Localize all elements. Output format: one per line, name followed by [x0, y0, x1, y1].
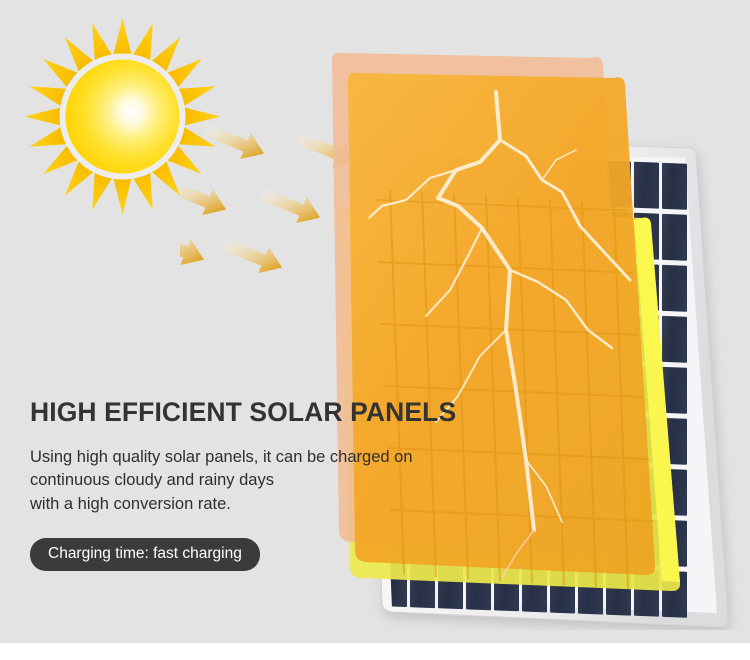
- description-line-1: Using high quality solar panels, it can …: [30, 446, 450, 469]
- charging-time-badge: Charging time: fast charging: [30, 538, 260, 571]
- sun-disc: [66, 60, 180, 174]
- description-text: Using high quality solar panels, it can …: [30, 446, 450, 516]
- page-title: HIGH EFFICIENT SOLAR PANELS: [30, 398, 450, 428]
- copy-block: HIGH EFFICIENT SOLAR PANELS Using high q…: [30, 398, 450, 571]
- bottom-white-strip: [0, 643, 750, 660]
- description-line-2: continuous cloudy and rainy days: [30, 469, 450, 492]
- description-line-3: with a high conversion rate.: [30, 493, 450, 516]
- promo-banner: HIGH EFFICIENT SOLAR PANELS Using high q…: [0, 0, 750, 660]
